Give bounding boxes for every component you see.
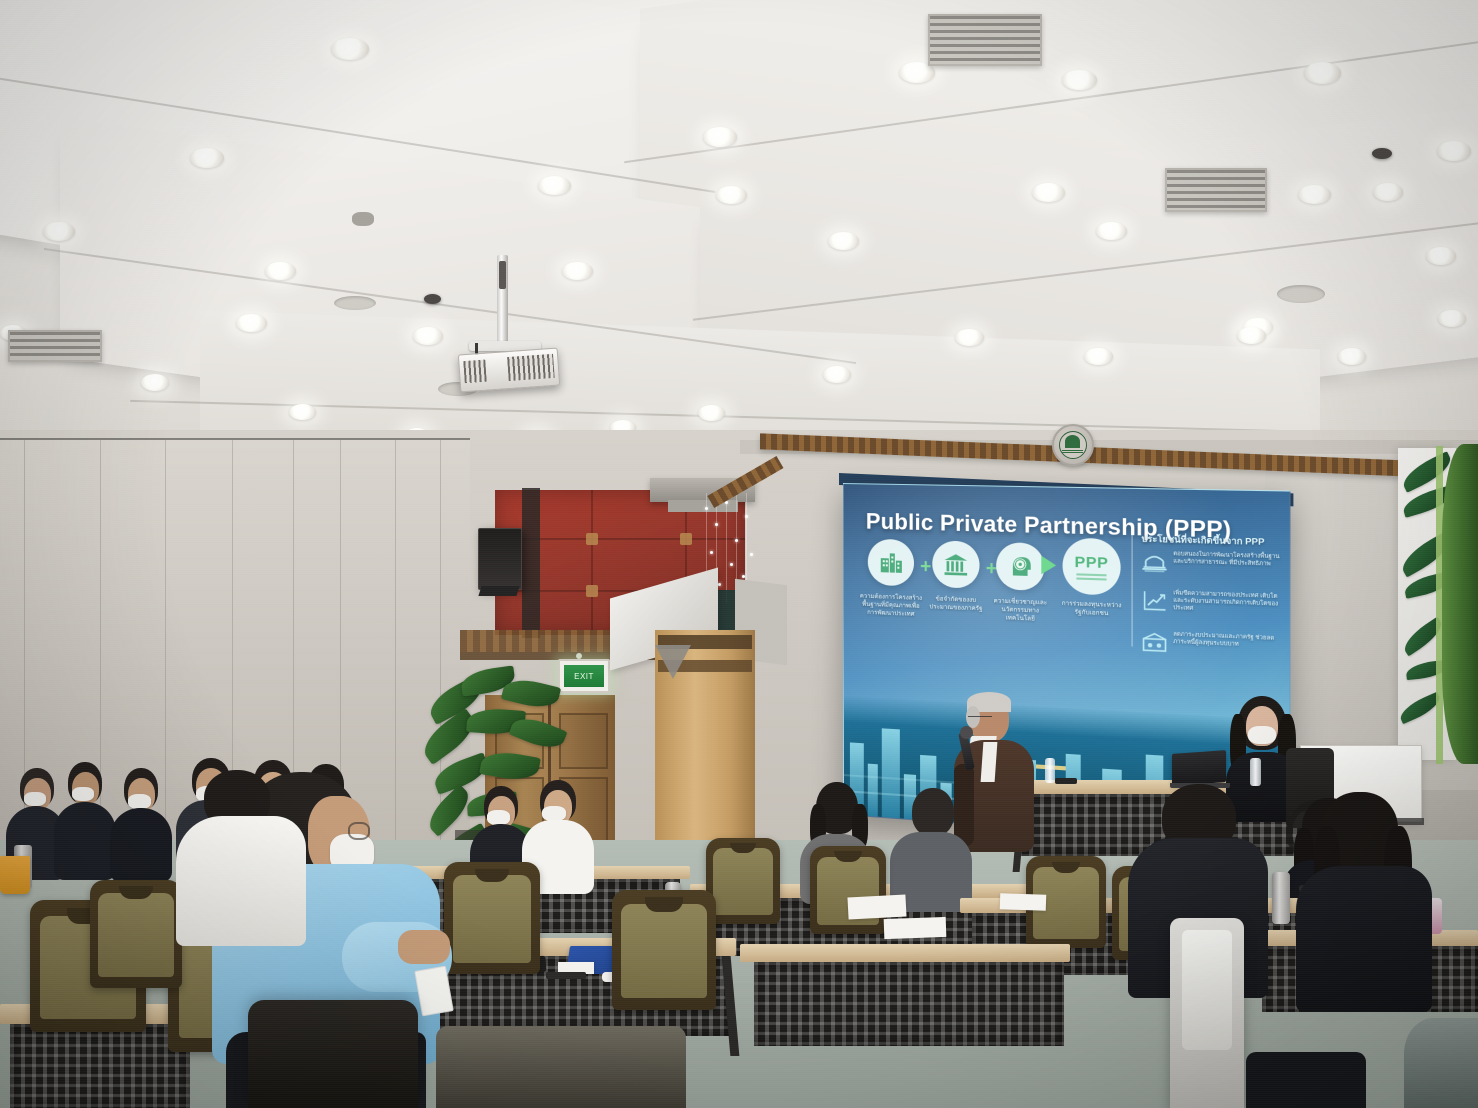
- attendee-hand: [398, 930, 450, 964]
- ceiling-downlight: [1437, 141, 1471, 161]
- ceiling-downlight: [538, 176, 571, 195]
- banner-green-panel: [1442, 444, 1478, 764]
- banquet-chair[interactable]: [612, 890, 716, 1010]
- audience-member: [110, 768, 172, 880]
- ceiling-downlight: [43, 222, 75, 241]
- eyeglasses: [968, 716, 992, 717]
- ceiling-round-vent: [1277, 285, 1325, 303]
- foreground-person-shoulder: [1246, 1052, 1366, 1108]
- flow-label: ความเชี่ยวชาญและนวัตกรรมทางเทคโนโลยี: [988, 597, 1053, 624]
- microphone-head: [960, 726, 973, 739]
- ceiling-downlight: [331, 38, 369, 60]
- audience-member: [890, 788, 972, 908]
- seminar-room-photo: EXIT: [0, 0, 1478, 1108]
- table-modesty-panel: [10, 1024, 190, 1108]
- ceiling-downlight: [413, 327, 443, 345]
- ceiling-downlight: [1237, 327, 1266, 344]
- laptop-screen[interactable]: [1172, 750, 1226, 786]
- banquet-chair[interactable]: [90, 880, 182, 988]
- ceiling-downlight: [265, 262, 296, 280]
- benefit-text: เพิ่มขีดความสามารถของประเทศ เติบโต และระ…: [1173, 590, 1285, 617]
- mobile-phone[interactable]: [1055, 778, 1077, 784]
- buildings-icon: [868, 539, 914, 587]
- ceiling-downlight: [828, 232, 859, 250]
- foreground-chair[interactable]: [1404, 1018, 1478, 1108]
- table-modesty-panel: [754, 962, 1064, 1046]
- emblem-arc-shape: [1065, 435, 1080, 448]
- audience-member: [176, 770, 306, 950]
- ceiling-downlight: [1304, 62, 1341, 84]
- ceiling-downlight: [1338, 348, 1366, 365]
- table-top: [740, 944, 1070, 962]
- ceiling-downlight: [1438, 310, 1466, 327]
- presenter-hair-side: [966, 706, 980, 728]
- foreground-chair[interactable]: [436, 1026, 686, 1108]
- water-bottle: [1250, 758, 1261, 786]
- ceiling-downlight: [141, 374, 169, 391]
- presenter-shirt: [981, 742, 998, 782]
- ceiling-downlight: [236, 314, 267, 332]
- sprinkler-icon: [352, 212, 374, 226]
- ceiling-downlight: [703, 127, 737, 147]
- projector-lens-grille: [463, 360, 486, 383]
- ceiling-downlight: [1084, 348, 1113, 365]
- emblem-wave-shape: [1062, 450, 1083, 454]
- ceiling-downlight: [1426, 247, 1456, 265]
- podium-triangle-accent: [655, 645, 691, 679]
- ceiling-downlight: [1373, 183, 1403, 201]
- paper-sheet[interactable]: [884, 917, 947, 939]
- flow-label: ข้อจำกัดของงบประมาณของภาครัฐ: [924, 595, 988, 614]
- water-bottle: [1045, 758, 1055, 783]
- ceiling-downlight: [955, 329, 984, 346]
- ceiling-projector: [455, 255, 560, 390]
- banquet-chair[interactable]: [810, 846, 886, 934]
- ceiling-air-vent: [1165, 168, 1267, 212]
- institutional-seal-emblem: [1052, 424, 1094, 466]
- head-idea-icon: [996, 542, 1044, 591]
- flow-arrow-icon: [1041, 556, 1056, 575]
- flow-label: การร่วมลงทุนระหว่างรัฐกับเอกชน: [1058, 600, 1125, 619]
- ceiling-round-vent: [334, 296, 376, 310]
- ceiling-speaker-icon: [424, 294, 441, 304]
- thermos[interactable]: [1272, 872, 1290, 924]
- benefit-text: ลดภาระงบประมาณและภาครัฐ ช่วยลดภาระหนี้ผู…: [1173, 631, 1285, 651]
- banquet-chair[interactable]: [444, 862, 540, 974]
- bank-icon: [1141, 630, 1167, 654]
- eyeglasses: [348, 822, 370, 840]
- ceiling-air-vent: [928, 14, 1042, 66]
- ceiling-downlight: [1298, 185, 1331, 204]
- ceiling-downlight: [562, 262, 593, 280]
- ceiling-downlight: [823, 366, 851, 383]
- slide-divider: [1132, 533, 1133, 647]
- projector-body: [458, 348, 560, 393]
- paper-sheet[interactable]: [1000, 893, 1047, 911]
- ppp-badge-label: PPP: [1075, 553, 1109, 572]
- ceiling-downlight: [1032, 183, 1065, 202]
- foreground-chair[interactable]: [248, 1000, 418, 1108]
- ceiling-air-vent: [8, 330, 102, 362]
- pen[interactable]: [546, 972, 586, 979]
- ceiling-speaker-icon: [1372, 148, 1392, 159]
- ceiling-downlight: [190, 148, 224, 168]
- face-mask: [1248, 726, 1276, 744]
- wall-seam-dark: [522, 488, 540, 638]
- ceiling-downlight: [716, 186, 747, 204]
- ceiling-downlight: [698, 405, 725, 421]
- ceiling: [0, 0, 1478, 480]
- flow-label: ความต้องการโครงสร้างพื้นฐานที่มีคุณภาพเพ…: [860, 593, 922, 620]
- ceiling-downlight: [1062, 70, 1097, 90]
- wall-speaker: [478, 528, 522, 590]
- benefit-row: ตอบสนองในการพัฒนาโครงสร้างพื้นฐานและบริก…: [1141, 550, 1284, 578]
- plus-symbol: +: [920, 556, 931, 579]
- orange-juice-cup[interactable]: [0, 856, 30, 894]
- paper-sheet[interactable]: [847, 894, 906, 919]
- ceiling-downlight: [1096, 222, 1127, 240]
- ceiling-downlight: [289, 404, 316, 420]
- benefit-text: ตอบสนองในการพัฒนาโครงสร้างพื้นฐานและบริก…: [1173, 551, 1285, 570]
- emblem-inner: [1059, 431, 1087, 459]
- government-building-icon: [932, 540, 979, 588]
- audience-member: [54, 762, 116, 878]
- projector-mount-clamp: [499, 261, 506, 289]
- growth-chart-icon: [1141, 589, 1167, 613]
- projector-vent-grille: [507, 354, 555, 381]
- audience-member: [1296, 792, 1432, 1008]
- banquet-chair[interactable]: [706, 838, 780, 924]
- speaker-bracket: [478, 586, 519, 596]
- white-chair-pad: [1182, 930, 1232, 1050]
- bridge-icon: [1141, 550, 1167, 574]
